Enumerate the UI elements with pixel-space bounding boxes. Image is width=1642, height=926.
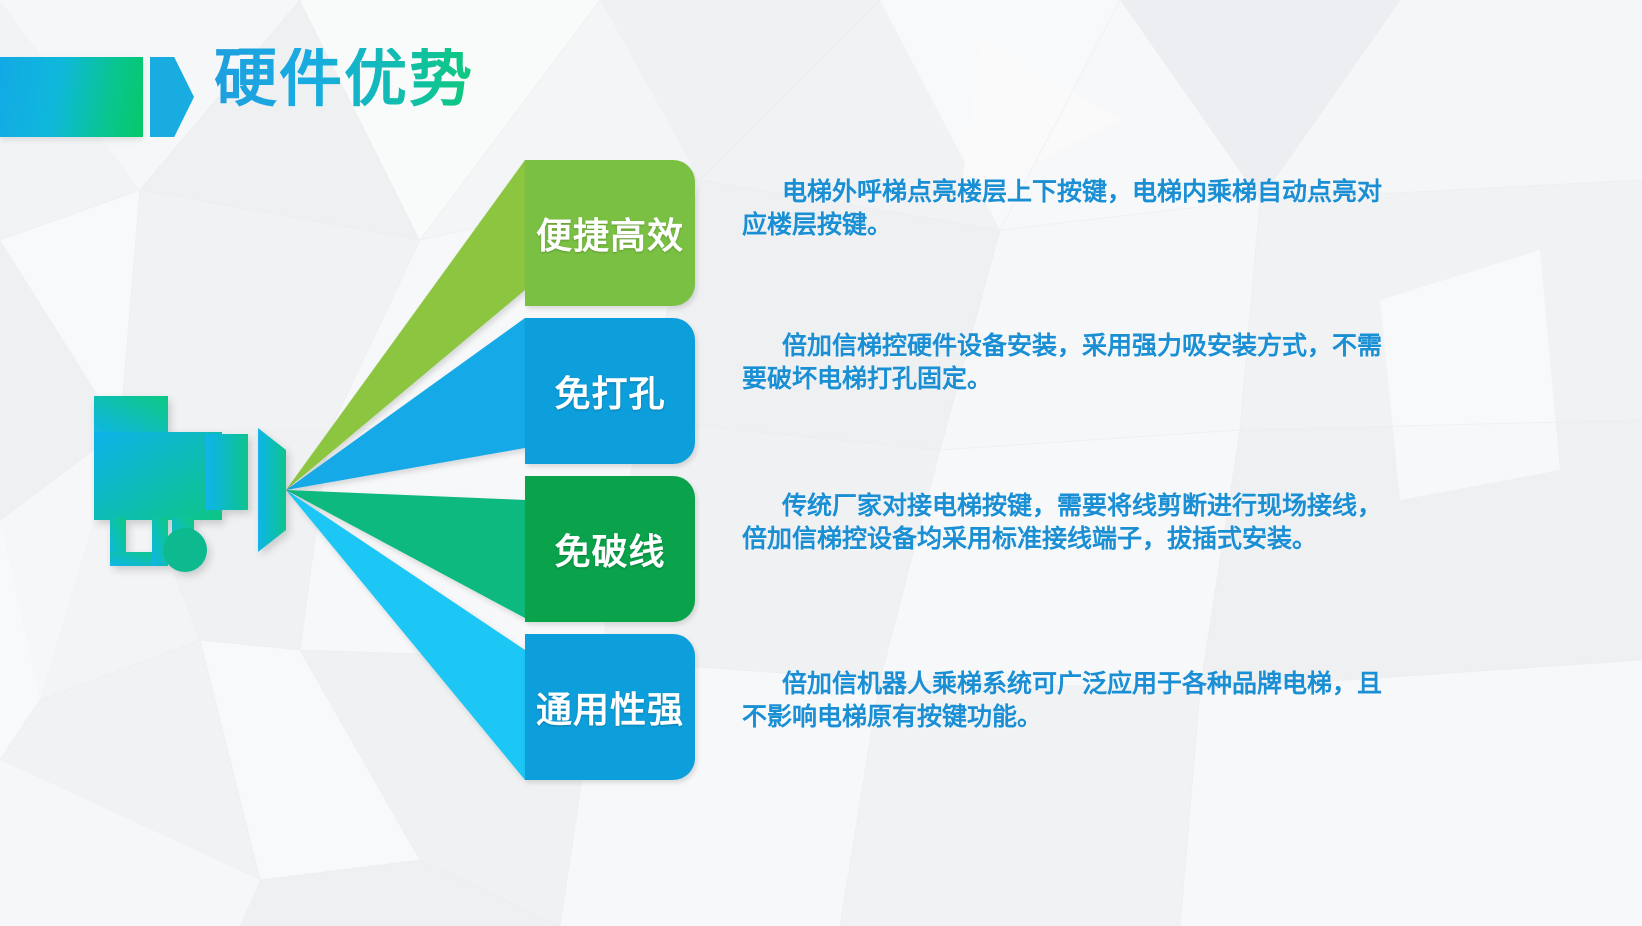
feature-card-4-label: 通用性强 <box>536 681 684 733</box>
feature-description-2: 倍加信梯控硬件设备安装，采用强力吸安装方式，不需要破坏电梯打孔固定。 <box>742 330 1402 396</box>
feature-card-3-label: 免破线 <box>554 523 665 575</box>
feature-description-3: 传统厂家对接电梯按键，需要将线剪断进行现场接线，倍加信梯控设备均采用标准接线端子… <box>742 490 1402 556</box>
projector-and-beams <box>0 0 1642 926</box>
title-banner-bar <box>0 57 143 137</box>
feature-card-3[interactable]: 免破线 <box>525 476 695 622</box>
feature-card-2[interactable]: 免打孔 <box>525 318 695 464</box>
feature-description-1: 电梯外呼梯点亮楼层上下按键，电梯内乘梯自动点亮对应楼层按键。 <box>742 176 1402 242</box>
beam-group <box>286 160 525 780</box>
feature-card-1[interactable]: 便捷高效 <box>525 160 695 306</box>
projector-icon <box>94 396 286 572</box>
feature-card-1-label: 便捷高效 <box>536 207 684 259</box>
feature-card-4[interactable]: 通用性强 <box>525 634 695 780</box>
feature-description-4: 倍加信机器人乘梯系统可广泛应用于各种品牌电梯，且不影响电梯原有按键功能。 <box>742 668 1402 734</box>
slide-canvas: 硬件优势 便捷高效 免打孔 免破线 通用性强 电梯外呼梯点亮楼层上下按键，电梯内… <box>0 0 1642 926</box>
page-title: 硬件优势 <box>214 48 474 111</box>
feature-card-2-label: 免打孔 <box>554 365 665 417</box>
